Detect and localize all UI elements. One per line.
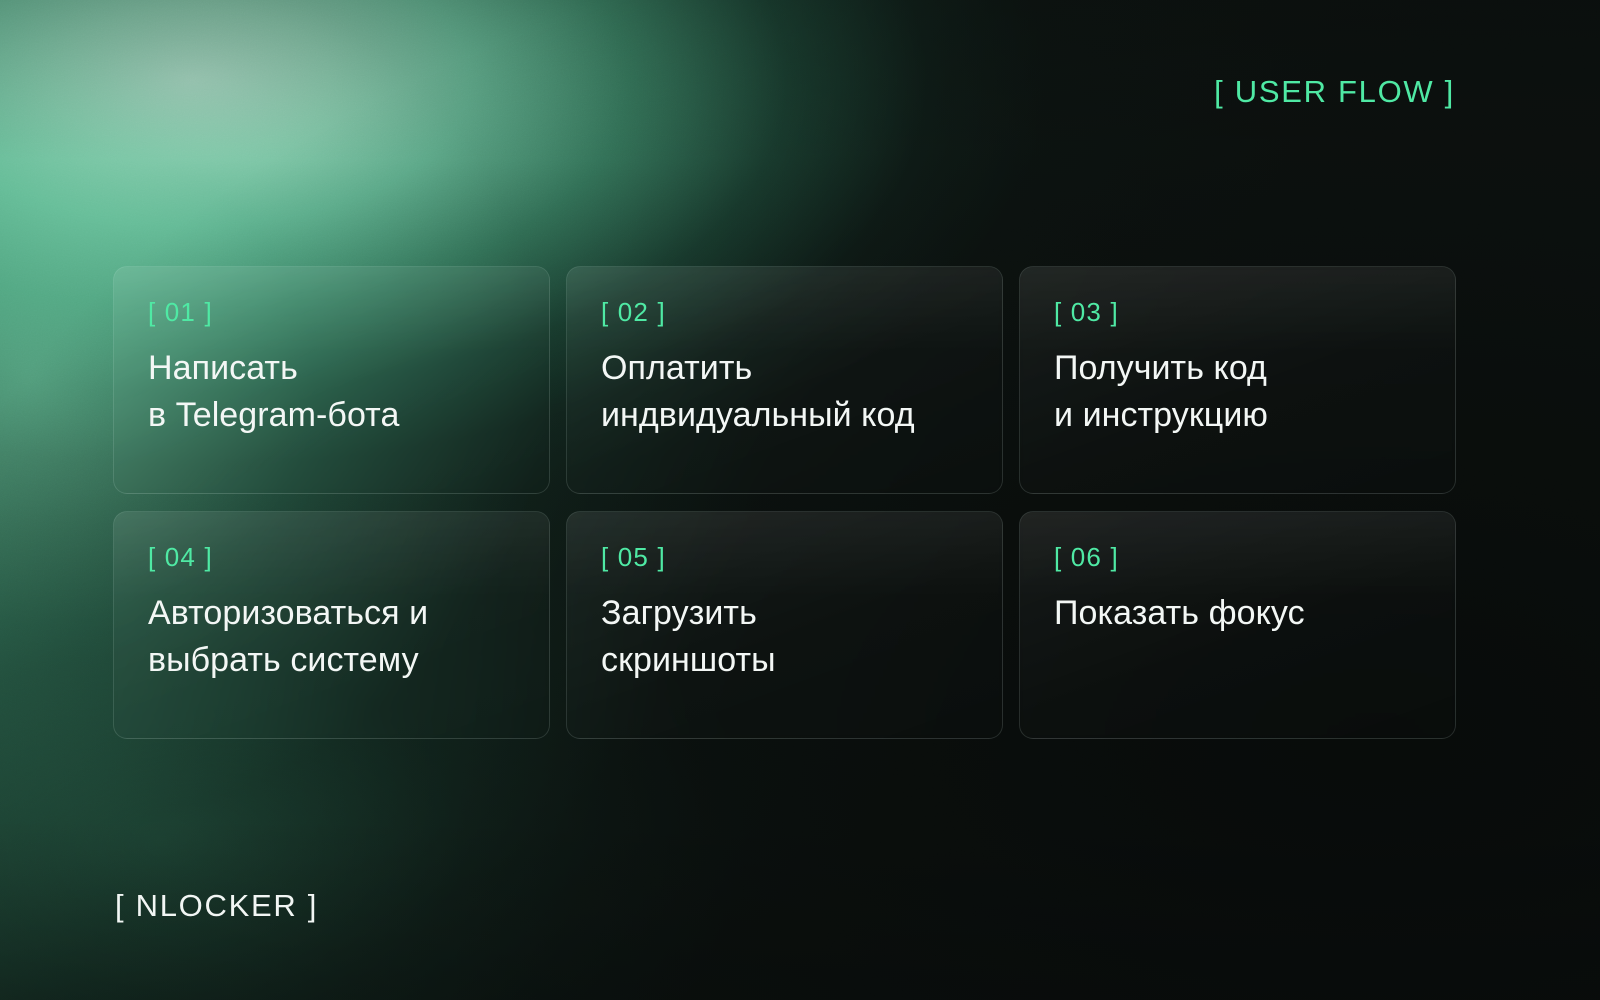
- step-title-02: Оплатить индвидуальный код: [601, 345, 968, 439]
- step-title-line-2: выбрать систему: [148, 637, 515, 684]
- step-number-03: [ 03 ]: [1054, 299, 1421, 325]
- brand-logotype: [ NLOCKER ]: [115, 888, 318, 924]
- step-title-03: Получить код и инструкцию: [1054, 345, 1421, 439]
- step-title-line-2: индвидуальный код: [601, 392, 968, 439]
- step-title-06: Показать фокус: [1054, 590, 1421, 637]
- slide-canvas: [ USER FLOW ] [ 01 ] Написать в Telegram…: [0, 0, 1600, 1000]
- step-title-line-2: скриншоты: [601, 637, 968, 684]
- flow-step-card-01[interactable]: [ 01 ] Написать в Telegram-бота: [113, 266, 550, 494]
- step-title-line-1: Авторизоваться и: [148, 590, 515, 637]
- step-title-line-1: Показать фокус: [1054, 590, 1421, 637]
- step-title-05: Загрузить скриншоты: [601, 590, 968, 684]
- flow-step-card-04[interactable]: [ 04 ] Авторизоваться и выбрать систему: [113, 511, 550, 739]
- step-title-line-1: Загрузить: [601, 590, 968, 637]
- step-title-01: Написать в Telegram-бота: [148, 345, 515, 439]
- flow-step-card-06[interactable]: [ 06 ] Показать фокус: [1019, 511, 1456, 739]
- step-number-04: [ 04 ]: [148, 544, 515, 570]
- user-flow-step-grid: [ 01 ] Написать в Telegram-бота [ 02 ] О…: [113, 266, 1456, 739]
- flow-step-card-03[interactable]: [ 03 ] Получить код и инструкцию: [1019, 266, 1456, 494]
- page-eyebrow-label: [ USER FLOW ]: [1214, 74, 1455, 110]
- step-title-line-2: и инструкцию: [1054, 392, 1421, 439]
- step-number-02: [ 02 ]: [601, 299, 968, 325]
- step-title-line-1: Написать: [148, 345, 515, 392]
- step-number-05: [ 05 ]: [601, 544, 968, 570]
- step-title-line-1: Оплатить: [601, 345, 968, 392]
- step-number-06: [ 06 ]: [1054, 544, 1421, 570]
- flow-step-card-02[interactable]: [ 02 ] Оплатить индвидуальный код: [566, 266, 1003, 494]
- step-title-line-2: в Telegram-бота: [148, 392, 515, 439]
- step-title-04: Авторизоваться и выбрать систему: [148, 590, 515, 684]
- step-number-01: [ 01 ]: [148, 299, 515, 325]
- flow-step-card-05[interactable]: [ 05 ] Загрузить скриншоты: [566, 511, 1003, 739]
- step-title-line-1: Получить код: [1054, 345, 1421, 392]
